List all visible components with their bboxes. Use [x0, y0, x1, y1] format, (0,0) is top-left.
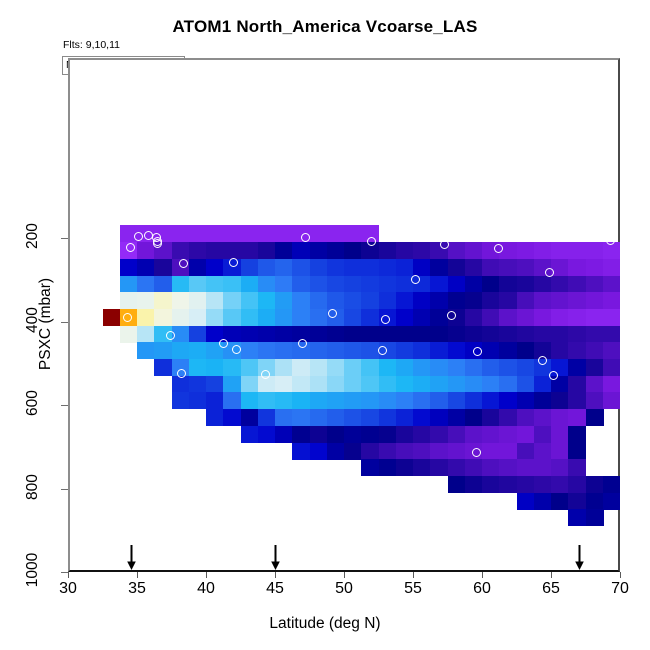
heatmap-cell: [517, 292, 535, 309]
heatmap-cell: [396, 342, 414, 359]
heatmap-cell: [258, 309, 276, 326]
heatmap-cell: [275, 276, 293, 293]
heatmap-cell: [327, 242, 345, 259]
heatmap-cell: [189, 259, 207, 276]
heatmap-cell: [189, 392, 207, 409]
heatmap-cell: [568, 509, 586, 526]
heatmap-cell: [379, 276, 397, 293]
heatmap-cell: [327, 443, 345, 460]
heatmap-cell: [327, 326, 345, 343]
heatmap-cell: [568, 376, 586, 393]
heatmap-cell: [327, 359, 345, 376]
heatmap-cell: [310, 259, 328, 276]
heatmap-cell: [379, 292, 397, 309]
heatmap-cell: [258, 342, 276, 359]
heatmap-cell: [465, 292, 483, 309]
heatmap-cell: [482, 392, 500, 409]
latitude-arrow-marker: [270, 545, 281, 571]
heatmap-cell: [172, 276, 190, 293]
heatmap-cell: [361, 259, 379, 276]
heatmap-cell: [465, 459, 483, 476]
heatmap-cell: [292, 292, 310, 309]
heatmap-cell: [379, 359, 397, 376]
heatmap-cell: [241, 359, 259, 376]
heatmap-cell: [172, 342, 190, 359]
heatmap-cell: [189, 276, 207, 293]
y-axis-tick: [61, 489, 68, 490]
heatmap-cell: [517, 493, 535, 510]
y-axis-tick: [61, 572, 68, 573]
heatmap-cell: [482, 443, 500, 460]
heatmap-cell: [172, 242, 190, 259]
heatmap-cell: [137, 342, 155, 359]
heatmap-cell: [396, 443, 414, 460]
heatmap-cell: [154, 359, 172, 376]
heatmap-cell: [361, 276, 379, 293]
heatmap-cell: [241, 426, 259, 443]
heatmap-cell: [154, 309, 172, 326]
heatmap-cell: [310, 242, 328, 259]
x-axis-tick: [137, 572, 138, 578]
heatmap-cell: [344, 359, 362, 376]
heatmap-cell: [551, 392, 569, 409]
heatmap-cell: [361, 426, 379, 443]
heatmap-cell: [361, 359, 379, 376]
heatmap-cell: [241, 392, 259, 409]
heatmap-cell: [206, 225, 224, 242]
heatmap-cell: [534, 326, 552, 343]
heatmap-cell: [344, 426, 362, 443]
heatmap-cell: [310, 276, 328, 293]
heatmap-cell: [327, 276, 345, 293]
heatmap-cell: [551, 326, 569, 343]
heatmap-cell: [465, 476, 483, 493]
data-point-marker: [126, 243, 135, 252]
heatmap-cell: [292, 409, 310, 426]
heatmap-cell: [482, 326, 500, 343]
heatmap-cell: [499, 342, 517, 359]
heatmap-cell: [413, 242, 431, 259]
data-point-marker: [447, 311, 456, 320]
heatmap-cell: [413, 459, 431, 476]
heatmap-cell: [241, 309, 259, 326]
heatmap-cell: [258, 242, 276, 259]
heatmap-cell: [603, 493, 620, 510]
heatmap-cell: [499, 359, 517, 376]
heatmap-cell: [379, 459, 397, 476]
heatmap-cell: [223, 225, 241, 242]
heatmap-cell: [344, 342, 362, 359]
heatmap-cell: [430, 443, 448, 460]
heatmap-cell: [534, 242, 552, 259]
heatmap-cell: [292, 443, 310, 460]
heatmap-cell: [396, 376, 414, 393]
heatmap-cell: [310, 376, 328, 393]
heatmap-cell: [344, 292, 362, 309]
heatmap-cell: [603, 292, 620, 309]
heatmap-cell: [586, 392, 604, 409]
heatmap-cell: [430, 276, 448, 293]
heatmap-cell: [448, 242, 466, 259]
heatmap-cell: [344, 443, 362, 460]
heatmap-cell: [413, 309, 431, 326]
flights-label: Flts: 9,10,11: [63, 39, 120, 51]
heatmap-cell: [361, 409, 379, 426]
heatmap-cell: [344, 259, 362, 276]
x-axis-tick-label: 40: [197, 580, 215, 598]
heatmap-cell: [465, 409, 483, 426]
heatmap-cell: [448, 259, 466, 276]
heatmap-cell: [137, 326, 155, 343]
heatmap-cell: [361, 376, 379, 393]
heatmap-cell: [551, 242, 569, 259]
heatmap-cell: [586, 326, 604, 343]
data-point-marker: [123, 313, 132, 322]
heatmap-cell: [258, 259, 276, 276]
heatmap-cell: [241, 242, 259, 259]
heatmap-cell: [206, 376, 224, 393]
heatmap-cell: [396, 292, 414, 309]
heatmap-cell: [465, 376, 483, 393]
heatmap-cell: [172, 292, 190, 309]
heatmap-cell: [137, 292, 155, 309]
heatmap-cell: [586, 309, 604, 326]
heatmap-cell: [482, 426, 500, 443]
x-axis-tick-label: 70: [611, 580, 629, 598]
heatmap-cell: [292, 392, 310, 409]
heatmap-cell: [344, 376, 362, 393]
heatmap-cell: [241, 326, 259, 343]
heatmap-cell: [534, 392, 552, 409]
y-axis-tick: [61, 405, 68, 406]
heatmap-cell: [551, 309, 569, 326]
heatmap-cell: [499, 276, 517, 293]
y-axis-tick-label: 1000: [24, 547, 42, 593]
data-point-marker: [606, 236, 615, 245]
heatmap-cell: [361, 443, 379, 460]
heatmap-cell: [534, 309, 552, 326]
heatmap-cell: [310, 359, 328, 376]
heatmap-cell: [586, 493, 604, 510]
heatmap-cell: [361, 342, 379, 359]
heatmap-cell: [534, 459, 552, 476]
heatmap-cell: [361, 326, 379, 343]
heatmap-cell: [482, 309, 500, 326]
heatmap-cell: [396, 259, 414, 276]
heatmap-cell: [430, 376, 448, 393]
heatmap-cell: [275, 292, 293, 309]
heatmap-cell: [275, 259, 293, 276]
heatmap-cell: [292, 309, 310, 326]
heatmap-cell: [568, 359, 586, 376]
data-point-marker: [555, 510, 564, 519]
heatmap-cell: [586, 259, 604, 276]
heatmap-cell: [517, 359, 535, 376]
heatmap-cell: [586, 276, 604, 293]
heatmap-cell: [413, 409, 431, 426]
heatmap-cell: [361, 309, 379, 326]
heatmap-cell: [534, 276, 552, 293]
heatmap-cell: [534, 292, 552, 309]
heatmap-cell: [568, 309, 586, 326]
data-point-marker: [261, 370, 270, 379]
heatmap-cell: [223, 292, 241, 309]
heatmap-cell: [223, 276, 241, 293]
heatmap-cell: [241, 376, 259, 393]
heatmap-cell: [499, 326, 517, 343]
data-point-marker: [166, 331, 175, 340]
heatmap-cell: [223, 242, 241, 259]
y-axis-tick-label: 800: [24, 464, 42, 510]
heatmap-cell: [275, 342, 293, 359]
heatmap-cell: [310, 409, 328, 426]
heatmap-cell: [344, 309, 362, 326]
x-axis-tick-label: 50: [335, 580, 353, 598]
heatmap-cell: [517, 476, 535, 493]
heatmap-cell: [275, 225, 293, 242]
data-point-marker: [298, 339, 307, 348]
heatmap-cell: [586, 509, 604, 526]
y-axis-title: PSXC (mbar): [37, 234, 55, 414]
heatmap-cell: [430, 426, 448, 443]
data-point-marker: [494, 244, 503, 253]
heatmap-cell: [430, 292, 448, 309]
heatmap-cell: [258, 276, 276, 293]
heatmap-cell: [517, 342, 535, 359]
heatmap-cell: [586, 409, 604, 426]
heatmap-cell: [344, 326, 362, 343]
heatmap-cell: [499, 476, 517, 493]
heatmap-cell: [430, 309, 448, 326]
heatmap-cell: [534, 476, 552, 493]
heatmap-cell: [430, 392, 448, 409]
heatmap-cell: [448, 409, 466, 426]
heatmap-cell: [137, 309, 155, 326]
heatmap-cell: [568, 409, 586, 426]
heatmap-cell: [137, 276, 155, 293]
heatmap-cell: [361, 459, 379, 476]
heatmap-cell: [534, 443, 552, 460]
heatmap-cell: [499, 259, 517, 276]
heatmap-cell: [189, 309, 207, 326]
heatmap-cell: [413, 443, 431, 460]
heatmap-cell: [258, 326, 276, 343]
heatmap-cell: [517, 426, 535, 443]
heatmap-cell: [189, 242, 207, 259]
x-axis-tick-label: 60: [473, 580, 491, 598]
heatmap-cell: [310, 292, 328, 309]
heatmap-cell: [396, 392, 414, 409]
heatmap-cell: [344, 242, 362, 259]
heatmap-cell: [551, 443, 569, 460]
heatmap-cell: [499, 392, 517, 409]
heatmap-cell: [189, 342, 207, 359]
heatmap-cell: [241, 292, 259, 309]
heatmap-cell: [551, 276, 569, 293]
heatmap-cell: [413, 292, 431, 309]
heatmap-cell: [551, 476, 569, 493]
data-point-marker: [473, 347, 482, 356]
heatmap-cell: [517, 242, 535, 259]
heatmap-cell: [430, 342, 448, 359]
heatmap-cell: [379, 326, 397, 343]
heatmap-cell: [292, 426, 310, 443]
heatmap-cell: [310, 443, 328, 460]
heatmap-cell: [310, 342, 328, 359]
heatmap-cell: [517, 259, 535, 276]
heatmap-cell: [465, 426, 483, 443]
heatmap-cell: [344, 409, 362, 426]
heatmap-cell: [154, 342, 172, 359]
heatmap-cell: [396, 409, 414, 426]
heatmap-cell: [120, 292, 138, 309]
heatmap-cell: [327, 426, 345, 443]
heatmap-cell: [241, 342, 259, 359]
heatmap-cell: [517, 459, 535, 476]
heatmap-cell: [482, 259, 500, 276]
x-axis-tick: [482, 572, 483, 578]
data-point-marker: [229, 258, 238, 267]
heatmap-cell: [344, 392, 362, 409]
heatmap-cell: [551, 342, 569, 359]
heatmap-cell: [430, 459, 448, 476]
data-point-marker: [301, 233, 310, 242]
heatmap-cell: [603, 359, 620, 376]
heatmap-cell: [206, 392, 224, 409]
heatmap-cell: [327, 259, 345, 276]
data-point-marker: [232, 345, 241, 354]
heatmap-cell: [172, 392, 190, 409]
heatmap-data-layer: [68, 58, 620, 572]
heatmap-cell: [482, 342, 500, 359]
heatmap-cell: [241, 225, 259, 242]
heatmap-cell: [241, 259, 259, 276]
heatmap-cell: [223, 359, 241, 376]
heatmap-cell: [292, 359, 310, 376]
x-axis-tick-label: 45: [266, 580, 284, 598]
x-axis-tick-label: 55: [404, 580, 422, 598]
heatmap-cell: [327, 225, 345, 242]
heatmap-cell: [499, 376, 517, 393]
heatmap-cell: [413, 426, 431, 443]
heatmap-cell: [465, 392, 483, 409]
heatmap-cell: [310, 225, 328, 242]
latitude-arrow-marker: [574, 545, 585, 571]
heatmap-cell: [568, 392, 586, 409]
heatmap-cell: [103, 309, 121, 326]
heatmap-cell: [603, 342, 620, 359]
heatmap-cell: [379, 392, 397, 409]
plot-canvas: ATOM1 North_America Vcoarse_LAS Flts: 9,…: [0, 0, 650, 650]
heatmap-cell: [292, 376, 310, 393]
heatmap-cell: [482, 476, 500, 493]
heatmap-cell: [482, 292, 500, 309]
heatmap-cell: [448, 459, 466, 476]
heatmap-cell: [586, 476, 604, 493]
heatmap-cell: [396, 309, 414, 326]
heatmap-cell: [275, 392, 293, 409]
heatmap-cell: [206, 292, 224, 309]
heatmap-cell: [120, 276, 138, 293]
heatmap-cell: [586, 342, 604, 359]
heatmap-cell: [430, 259, 448, 276]
heatmap-cell: [275, 409, 293, 426]
heatmap-cell: [517, 276, 535, 293]
heatmap-cell: [172, 309, 190, 326]
heatmap-cell: [603, 326, 620, 343]
heatmap-cell: [172, 376, 190, 393]
heatmap-cell: [379, 409, 397, 426]
latitude-arrow-marker: [126, 545, 137, 571]
heatmap-cell: [223, 309, 241, 326]
heatmap-cell: [396, 459, 414, 476]
heatmap-cell: [258, 426, 276, 443]
heatmap-cell: [568, 276, 586, 293]
x-axis-tick-label: 30: [59, 580, 77, 598]
heatmap-cell: [448, 342, 466, 359]
heatmap-cell: [258, 292, 276, 309]
heatmap-cell: [603, 259, 620, 276]
heatmap-cell: [154, 292, 172, 309]
heatmap-cell: [344, 225, 362, 242]
heatmap-cell: [189, 225, 207, 242]
heatmap-cell: [568, 242, 586, 259]
heatmap-cell: [568, 493, 586, 510]
x-axis-tick: [275, 572, 276, 578]
heatmap-cell: [275, 359, 293, 376]
heatmap-cell: [499, 409, 517, 426]
heatmap-cell: [327, 392, 345, 409]
heatmap-cell: [275, 376, 293, 393]
heatmap-cell: [603, 476, 620, 493]
heatmap-cell: [603, 242, 620, 259]
heatmap-cell: [568, 292, 586, 309]
heatmap-cell: [413, 376, 431, 393]
heatmap-cell: [568, 326, 586, 343]
heatmap-cell: [551, 409, 569, 426]
x-axis-tick: [68, 572, 69, 578]
heatmap-cell: [568, 342, 586, 359]
heatmap-cell: [499, 443, 517, 460]
heatmap-cell: [499, 426, 517, 443]
heatmap-cell: [344, 276, 362, 293]
heatmap-cell: [258, 225, 276, 242]
heatmap-cell: [448, 443, 466, 460]
heatmap-cell: [448, 292, 466, 309]
heatmap-cell: [310, 326, 328, 343]
heatmap-cell: [586, 359, 604, 376]
heatmap-cell: [223, 409, 241, 426]
heatmap-cell: [448, 326, 466, 343]
heatmap-cell: [482, 359, 500, 376]
heatmap-cell: [327, 376, 345, 393]
heatmap-cell: [396, 359, 414, 376]
y-axis-tick: [61, 238, 68, 239]
heatmap-cell: [292, 276, 310, 293]
x-axis-tick: [620, 572, 621, 578]
heatmap-cell: [310, 309, 328, 326]
data-point-marker: [472, 448, 481, 457]
heatmap-cell: [430, 359, 448, 376]
heatmap-cell: [465, 276, 483, 293]
heatmap-cell: [413, 342, 431, 359]
heatmap-cell: [189, 326, 207, 343]
heatmap-cell: [327, 409, 345, 426]
heatmap-cell: [534, 426, 552, 443]
heatmap-cell: [258, 409, 276, 426]
heatmap-cell: [534, 409, 552, 426]
heatmap-cell: [292, 242, 310, 259]
